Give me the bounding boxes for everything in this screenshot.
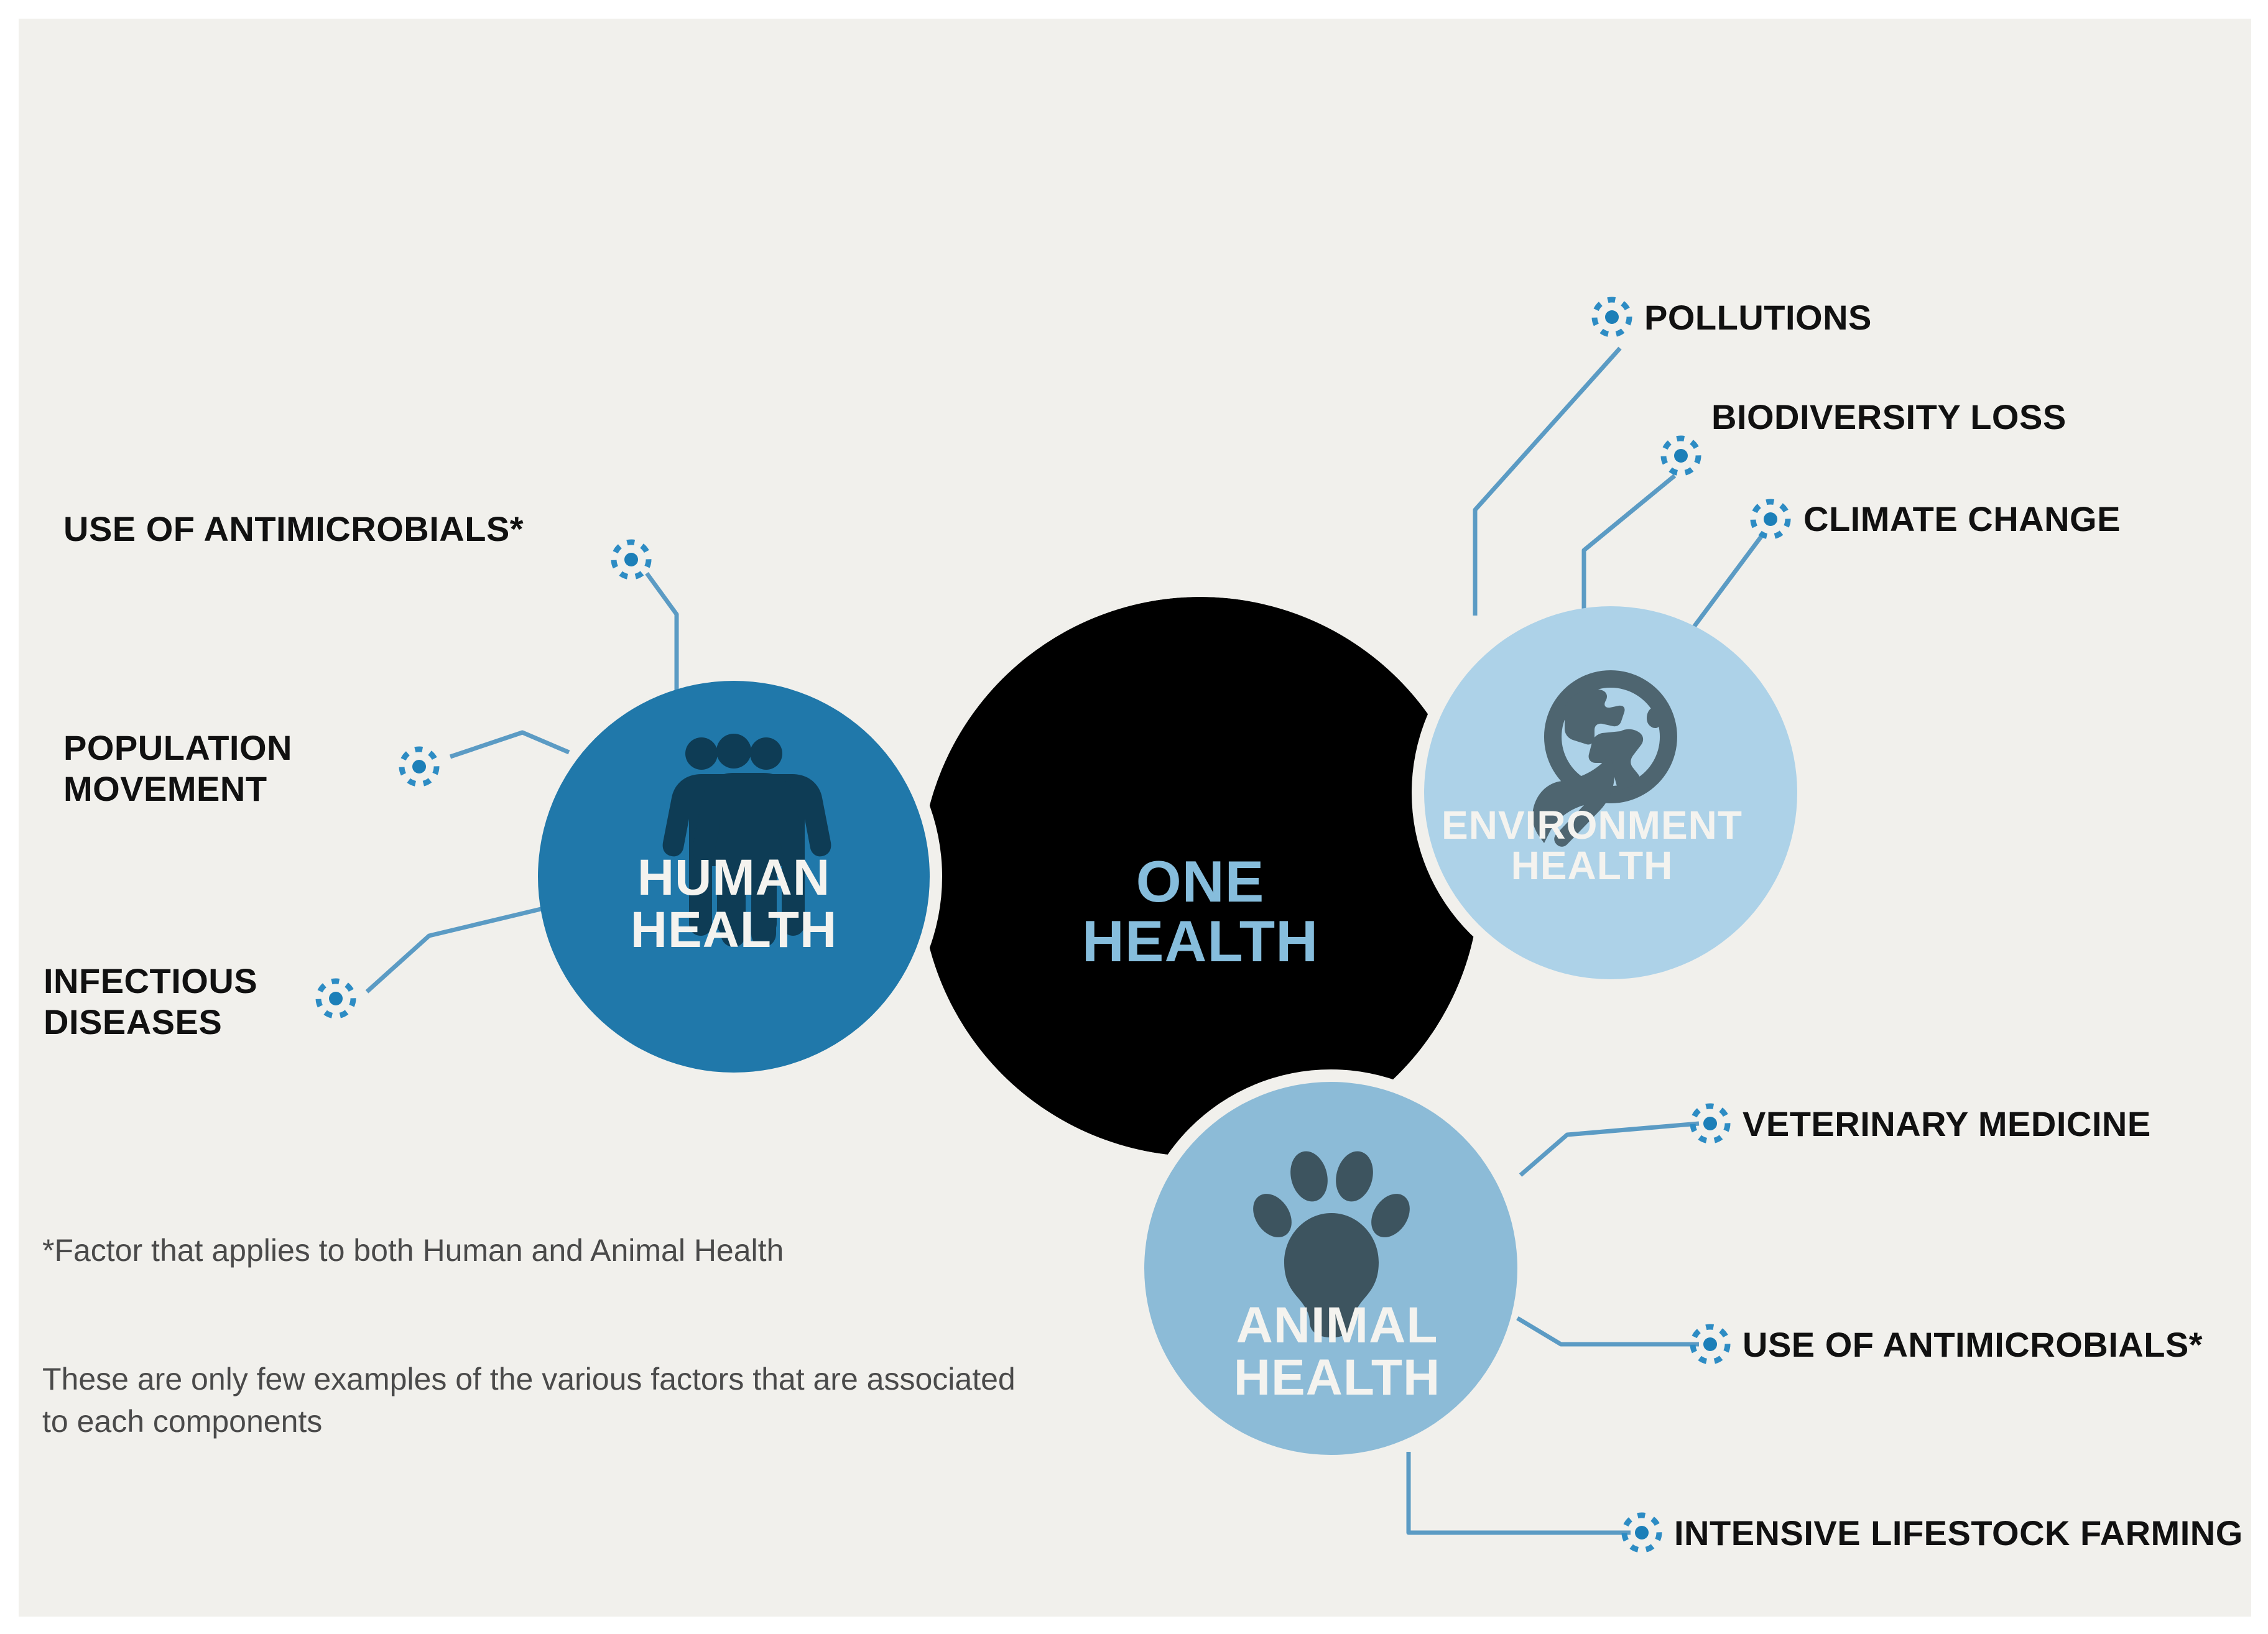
connector-pollutions [1475,348,1620,616]
factor-label-intensive-lifestock-farming[interactable]: INTENSIVE LIFESTOCK FARMING [1674,1513,2243,1554]
marker-pollutions[interactable] [1595,300,1629,335]
connector-population-movement [450,732,569,757]
factor-label-biodiversity-loss[interactable]: BIODIVERSITY LOSS [1711,397,2067,438]
marker-climate-change[interactable] [1753,502,1788,537]
marker-population-movement[interactable] [402,749,437,784]
connector-intensive-lifestock-farming [1409,1452,1631,1533]
marker-use-of-antimicrobials-human[interactable] [614,542,649,577]
factor-label-infectious-diseases[interactable]: INFECTIOUS DISEASES [44,961,317,1043]
environment-health-circle[interactable] [1424,606,1797,979]
marker-infectious-diseases[interactable] [318,981,353,1016]
connector-use-of-antimicrobials-animal [1517,1318,1699,1344]
infographic-stage: HUMAN HEALTH ONE HEALTH ENVIRONMENT HEAL… [0,0,2268,1634]
infographic-canvas: HUMAN HEALTH ONE HEALTH ENVIRONMENT HEAL… [19,19,2251,1617]
environment-health-label: ENVIRONMENT HEALTH [1393,805,1791,887]
connector-climate-change [1688,537,1761,634]
disclaimer-note: These are only few examples of the vario… [42,1359,1037,1442]
factor-label-climate-change[interactable]: CLIMATE CHANGE [1803,499,2121,540]
human-health-label: HUMAN HEALTH [535,852,933,956]
factor-label-use-of-antimicrobials-human[interactable]: USE OF ANTIMICROBIALS* [63,509,524,550]
factor-label-population-movement[interactable]: POPULATION MOVEMENT [63,727,356,810]
connector-veterinary-medicine [1520,1124,1699,1175]
one-health-label: ONE HEALTH [995,852,1405,971]
connector-biodiversity-loss [1584,476,1675,616]
factor-label-pollutions[interactable]: POLLUTIONS [1644,297,1872,338]
factor-label-veterinary-medicine[interactable]: VETERINARY MEDICINE [1743,1104,2151,1145]
factor-label-use-of-antimicrobials-animal[interactable]: USE OF ANTIMICROBIALS* [1743,1324,2203,1365]
marker-biodiversity-loss[interactable] [1664,438,1698,473]
footnote-asterisk: *Factor that applies to both Human and A… [42,1230,1037,1272]
animal-health-label: ANIMAL HEALTH [1132,1299,1542,1403]
